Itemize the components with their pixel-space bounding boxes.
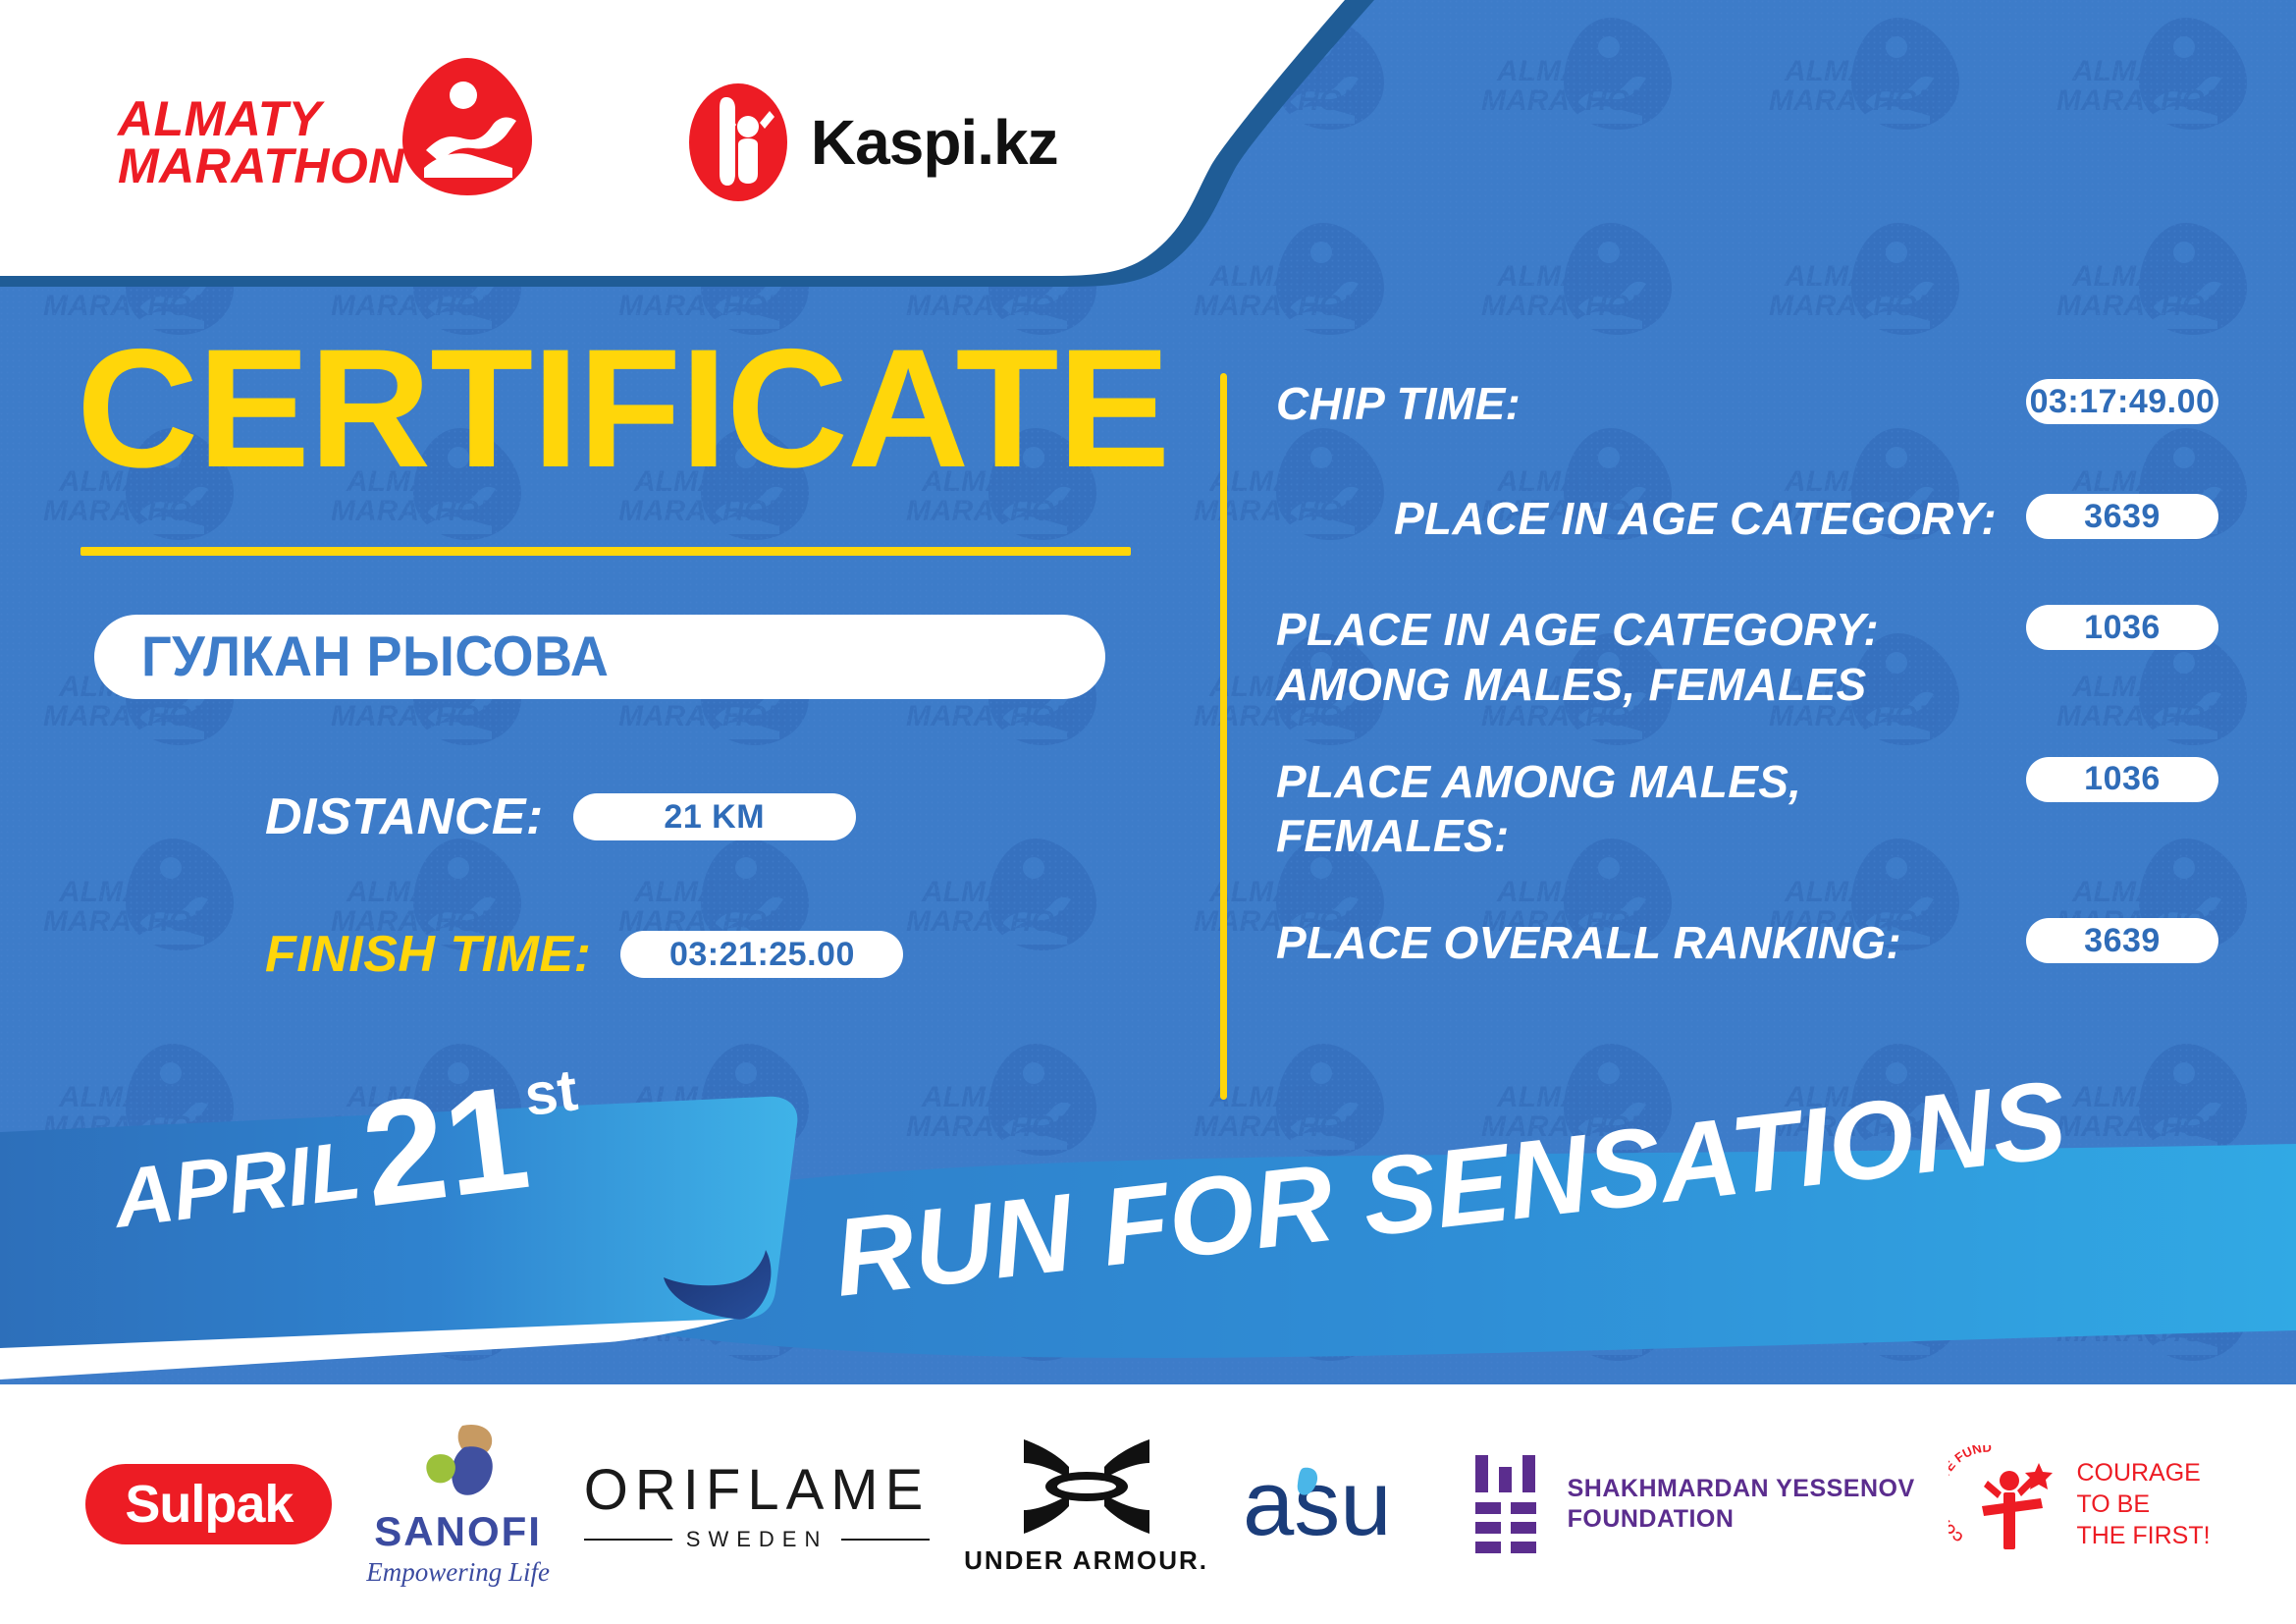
sponsor-courage-line3: THE FIRST! [2076,1520,2210,1551]
finish-time-row: FINISH TIME: 03:21:25.00 [265,925,1217,984]
vertical-divider [1220,373,1227,1100]
distance-value: 21 KM [664,798,765,837]
sponsor-yessenov-line2: FOUNDATION [1568,1504,1915,1535]
stat-row-chip-time: CHIP TIME: 03:17:49.00 [1276,375,2218,431]
sponsor-under-armour: UNDER ARMOUR. [964,1434,1208,1576]
sponsor-courage-line1: COURAGE [2076,1457,2210,1489]
sponsor-footer: Sulpak SANOFI Empowering Life ORIFLAME S… [0,1384,2296,1624]
distance-value-pill: 21 KM [573,793,856,840]
event-ribbon [0,1085,2296,1409]
almaty-marathon-logo: ALMATY MARATHON [118,85,536,199]
stat-label-line2: FEMALES: [1276,809,2004,863]
sponsor-asu-label: asu [1243,1452,1392,1554]
stat-row-place-age-category: PLACE IN AGE CATEGORY: 3639 [1276,490,2218,546]
stat-value-pill: 1036 [2026,605,2218,650]
sponsor-sanofi-tagline: Empowering Life [366,1557,550,1588]
sponsor-under-armour-label: UNDER ARMOUR. [964,1545,1208,1576]
stat-value: 3639 [2084,922,2161,960]
almaty-logo-line1: ALMATY [118,95,404,142]
courage-fund-icon: CORPORATE FUND [1949,1445,2066,1563]
svg-text:CORPORATE FUND: CORPORATE FUND [1949,1445,1992,1545]
stat-value: 3639 [2084,498,2161,536]
kaspi-person-icon [683,80,793,205]
sponsor-yessenov-line1: SHAKHMARDAN YESSENOV [1568,1474,1915,1504]
stat-value: 1036 [2084,760,2161,798]
sponsor-sanofi-label: SANOFI [374,1508,542,1555]
stat-label: CHIP TIME: [1276,375,2004,431]
title-underline [80,547,1131,556]
runner-drop-icon [399,52,536,199]
stat-label: PLACE IN AGE CATEGORY: AMONG MALES, FEMA… [1276,601,2004,711]
certificate-canvas: ALMATY MARATHON ALMATY MARATHON [0,0,2296,1624]
stat-row-place-among-males-females: PLACE AMONG MALES, FEMALES: 1036 [1276,753,2218,863]
stat-row-place-age-category-among: PLACE IN AGE CATEGORY: AMONG MALES, FEMA… [1276,601,2218,711]
athlete-name-field: ГУЛКАН РЫСОВА [94,615,1105,699]
sanofi-icon [405,1422,511,1506]
stat-row-place-overall-ranking: PLACE OVERALL RANKING: 3639 [1276,914,2218,970]
finish-time-value-pill: 03:21:25.00 [620,931,903,978]
distance-row: DISTANCE: 21 KM [265,787,1217,846]
sponsor-sulpak-label: Sulpak [125,1474,293,1535]
sponsor-courage-fund: CORPORATE FUND COURAGE TO BE THE FIRST! [1949,1445,2210,1563]
sponsor-courage-line2: TO BE [2076,1489,2210,1520]
courage-arc-text: CORPORATE FUND [1949,1445,1992,1545]
divider-line-left [584,1539,672,1541]
left-column: CERTIFICATE ГУЛКАН РЫСОВА DISTANCE: 21 K… [0,324,1217,984]
stat-value-pill: 1036 [2026,757,2218,802]
distance-label: DISTANCE: [265,787,544,846]
kaspi-logo-label: Kaspi.kz [811,106,1058,179]
sponsor-asu: asu [1243,1452,1439,1556]
finish-time-value: 03:21:25.00 [669,936,855,974]
stat-value-pill: 03:17:49.00 [2026,379,2218,424]
stats-column: CHIP TIME: 03:17:49.00 PLACE IN AGE CATE… [1276,375,2218,970]
athlete-name-value: ГУЛКАН РЫСОВА [141,624,609,689]
sponsor-oriflame: ORIFLAME SWEDEN [584,1457,931,1552]
yessenov-mark-icon [1473,1453,1544,1555]
sponsor-sanofi: SANOFI Empowering Life [366,1422,550,1588]
almaty-logo-line2: MARATHON [118,142,404,189]
stat-label: PLACE AMONG MALES, FEMALES: [1276,753,2004,863]
under-armour-icon [1014,1434,1159,1540]
stat-value: 03:17:49.00 [2030,383,2216,421]
stat-label-line1: PLACE AMONG MALES, [1276,755,2004,809]
stat-label-line2: AMONG MALES, FEMALES [1276,658,2004,712]
sponsor-oriflame-sub: SWEDEN [686,1527,828,1552]
sponsor-oriflame-label: ORIFLAME [584,1457,931,1523]
page-title: CERTIFICATE [77,324,1217,493]
sponsor-courage-text: COURAGE TO BE THE FIRST! [2076,1457,2210,1551]
sponsor-oriflame-sub-row: SWEDEN [584,1527,931,1552]
stat-label: PLACE IN AGE CATEGORY: [1276,490,2004,546]
stat-value-pill: 3639 [2026,918,2218,963]
sponsor-yessenov-foundation: SHAKHMARDAN YESSENOV FOUNDATION [1473,1453,1915,1555]
divider-line-right [841,1539,930,1541]
stat-value: 1036 [2084,609,2161,647]
asu-icon: asu [1243,1452,1439,1556]
sponsor-yessenov-text: SHAKHMARDAN YESSENOV FOUNDATION [1568,1474,1915,1536]
stat-label: PLACE OVERALL RANKING: [1276,914,2004,970]
stat-label-line1: PLACE IN AGE CATEGORY: [1276,603,2004,657]
finish-time-label: FINISH TIME: [265,925,591,984]
kaspi-logo: Kaspi.kz [683,80,1058,205]
stat-value-pill: 3639 [2026,494,2218,539]
sponsor-sulpak: Sulpak [85,1464,332,1544]
